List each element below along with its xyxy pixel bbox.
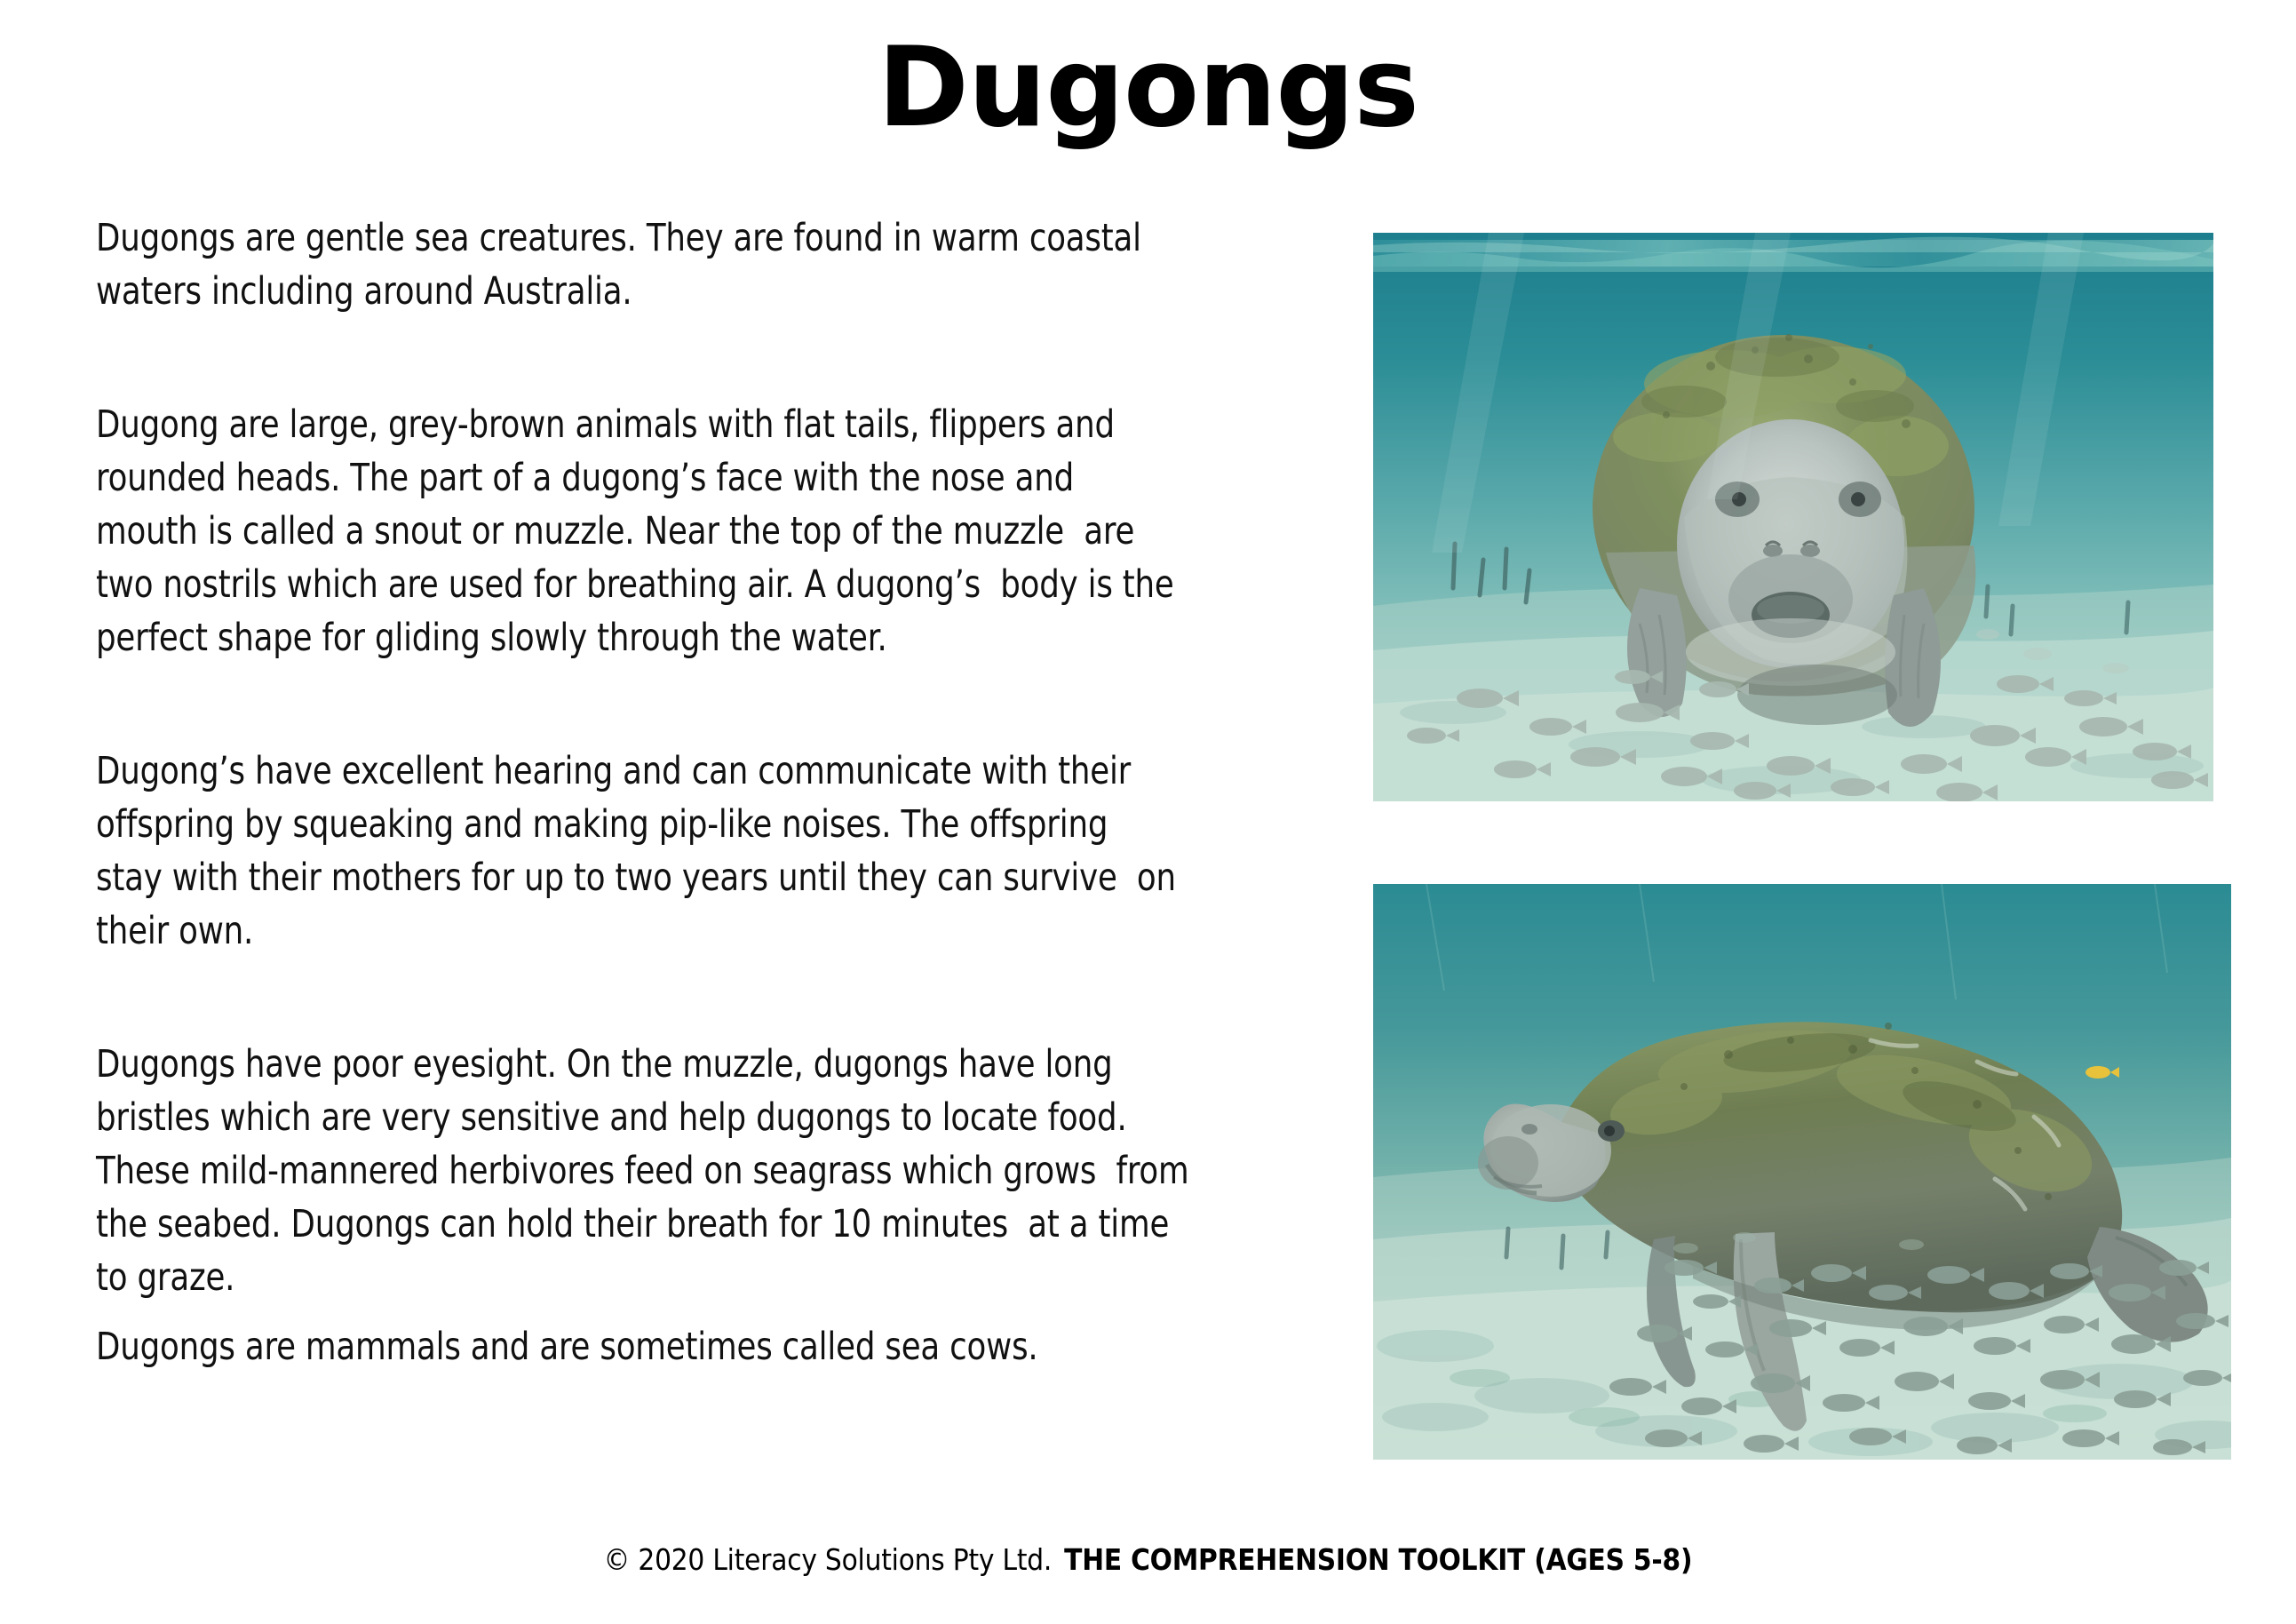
paragraph-spacer xyxy=(96,665,1286,744)
paragraph-eyesight: Dugongs have poor eyesight. On the muzzl… xyxy=(96,1038,1191,1304)
paragraph-description: Dugong are large, grey-brown animals wit… xyxy=(96,398,1191,665)
toolkit-label: THE COMPREHENSION TOOLKIT (AGES 5-8) xyxy=(1064,1542,1692,1577)
paragraph-spacer xyxy=(96,1304,1286,1320)
dugong-side-photo xyxy=(1373,884,2231,1460)
paragraph-spacer xyxy=(96,318,1286,398)
worksheet-page: Dugongs Dugongs are gentle sea creatures… xyxy=(0,0,2296,1624)
text-column: Dugongs are gentle sea creatures. They a… xyxy=(96,211,1286,1373)
footer: © 2020 Literacy Solutions Pty Ltd.THE CO… xyxy=(0,1542,2296,1577)
page-title: Dugongs xyxy=(0,30,2296,146)
copyright-text: © 2020 Literacy Solutions Pty Ltd. xyxy=(604,1542,1053,1577)
paragraph-mammals: Dugongs are mammals and are sometimes ca… xyxy=(96,1320,1191,1373)
paragraph-spacer xyxy=(96,958,1286,1038)
paragraph-intro: Dugongs are gentle sea creatures. They a… xyxy=(96,211,1191,318)
paragraph-hearing: Dugong’s have excellent hearing and can … xyxy=(96,744,1191,958)
dugong-front-photo xyxy=(1373,233,2213,801)
